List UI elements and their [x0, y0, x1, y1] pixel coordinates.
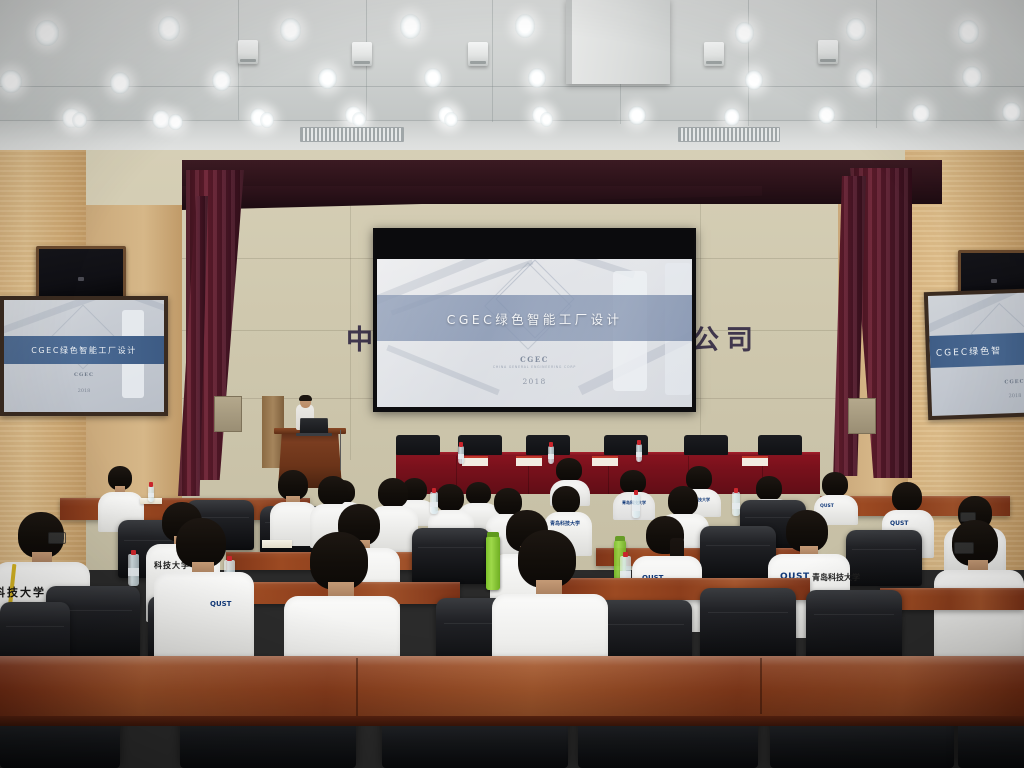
- ceiling-downlight: [444, 112, 458, 127]
- ceiling-downlight: [168, 114, 183, 130]
- ceiling-downlight: [735, 22, 754, 44]
- presenter-hair: [299, 395, 312, 401]
- slide-logo-subtitle: CHINA GENERAL ENGINEERING CORP: [493, 365, 576, 369]
- side-monitor-right-title: CGEC绿色智: [929, 332, 1024, 368]
- ceiling-downlight: [352, 112, 366, 127]
- head-table-nameplate: [742, 456, 768, 466]
- table-edge: [0, 716, 1024, 726]
- head-table-nameplate: [592, 456, 618, 466]
- head-table-nameplate: [462, 456, 488, 466]
- ceiling-seam: [876, 0, 877, 128]
- podium-microphone-stand: [340, 430, 341, 470]
- ceiling-downlight: [400, 14, 421, 39]
- audience-chair[interactable]: [412, 528, 490, 584]
- slide-title-text: CGEC绿色智能工厂设计: [377, 295, 692, 341]
- ceiling-downlight: [962, 66, 982, 88]
- ceiling-spotlight: [352, 42, 372, 66]
- audience-chair[interactable]: [700, 588, 796, 660]
- shirt-logo-text: QUST: [820, 504, 834, 509]
- ceiling-downlight: [280, 18, 301, 42]
- audience-chair[interactable]: [806, 590, 902, 662]
- table-seam: [356, 658, 358, 716]
- ceiling-downlight: [72, 112, 87, 128]
- ceiling-downlight: [515, 14, 535, 38]
- head-table-nameplate: [516, 456, 542, 466]
- shirt-logo-text: 科技大学: [0, 584, 46, 600]
- wall-speaker-left: [36, 246, 126, 300]
- ceiling-downlight: [1002, 102, 1021, 122]
- ceiling-downlight: [424, 68, 442, 88]
- shirt-logo-text: QUST: [210, 600, 231, 608]
- shirt-logo-text: 青岛科技大学: [550, 520, 580, 527]
- ceiling-downlight: [724, 108, 740, 126]
- ceiling-downlight: [110, 72, 130, 94]
- wall-sign-text-right: 公司: [692, 318, 760, 357]
- ceiling-spotlight: [818, 40, 838, 64]
- head-table-chair: [684, 435, 728, 455]
- side-monitor-left: CGEC绿色智能工厂设计 CGEC 2018: [0, 296, 168, 416]
- slide-year-text: 2018: [523, 377, 547, 386]
- head-table-chair: [458, 435, 502, 455]
- ceiling-downlight: [318, 68, 337, 89]
- ceiling-downlight: [158, 16, 180, 41]
- table-seam: [760, 658, 762, 714]
- side-monitor-right: CGEC绿色智 CGEC 2018: [924, 288, 1024, 420]
- side-monitor-left-screen: CGEC绿色智能工厂设计 CGEC 2018: [4, 300, 164, 412]
- podium-laptop[interactable]: [300, 418, 328, 434]
- wall-panel-box-left: [214, 396, 242, 432]
- water-bottle[interactable]: [148, 486, 154, 502]
- ceiling-spotlight: [704, 42, 724, 66]
- notebook: [262, 540, 292, 548]
- shirt-logo-text: 青岛科技大学: [812, 572, 860, 583]
- ceiling-downlight: [855, 68, 874, 89]
- ceiling-downlight: [35, 20, 59, 46]
- ceiling-downlight: [818, 106, 835, 124]
- green-thermos[interactable]: [486, 536, 500, 590]
- side-monitor-right-logo: CGEC: [1004, 379, 1024, 386]
- ceiling-downlight: [540, 112, 553, 127]
- ceiling-downlight: [212, 70, 231, 91]
- ceiling-downlight: [260, 112, 274, 128]
- ceiling-seam: [492, 0, 493, 122]
- head-table-chair: [396, 435, 440, 455]
- foreground-table: [0, 656, 1024, 718]
- ceiling-air-vent: [678, 127, 780, 142]
- podium-laptop-base: [296, 433, 332, 436]
- water-bottle[interactable]: [732, 492, 740, 516]
- water-bottle[interactable]: [430, 492, 438, 514]
- ceiling-downlight: [912, 104, 930, 123]
- side-monitor-right-year: 2018: [1009, 393, 1022, 399]
- head-table-chair: [758, 435, 802, 455]
- ceiling-downlight: [628, 106, 646, 125]
- water-bottle[interactable]: [632, 494, 640, 518]
- shirt-logo-text: QUST: [890, 520, 908, 527]
- projection-screen-header-band: [375, 230, 694, 259]
- water-bottle[interactable]: [128, 554, 139, 586]
- ceiling-downlight: [0, 70, 22, 93]
- ceiling-spotlight: [238, 40, 258, 64]
- water-bottle[interactable]: [548, 446, 554, 464]
- conference-hall-photo: 中国 公司 CGEC绿色智能工厂设计 CGEC CHINA GENERAL EN…: [0, 0, 1024, 768]
- slide-logo-mark: CGEC: [493, 355, 576, 364]
- audience-chair[interactable]: [700, 526, 776, 582]
- ceiling-downlight: [846, 18, 866, 41]
- water-bottle[interactable]: [458, 446, 464, 464]
- ceiling-seam: [748, 0, 749, 126]
- ceiling-downlight: [958, 20, 979, 44]
- wall-panel-box-right: [848, 398, 876, 434]
- ceiling-downlight: [528, 68, 546, 88]
- ceiling-spotlight: [468, 42, 488, 66]
- slide-logo: CGEC CHINA GENERAL ENGINEERING CORP: [493, 355, 576, 369]
- water-bottle[interactable]: [636, 444, 642, 462]
- projected-slide: CGEC绿色智能工厂设计 CGEC CHINA GENERAL ENGINEER…: [377, 259, 692, 407]
- ceiling-air-vent: [300, 127, 404, 142]
- ceiling-projector-housing: [566, 0, 670, 84]
- side-monitor-right-screen: CGEC绿色智 CGEC 2018: [928, 292, 1024, 416]
- ceiling-downlight: [745, 70, 763, 90]
